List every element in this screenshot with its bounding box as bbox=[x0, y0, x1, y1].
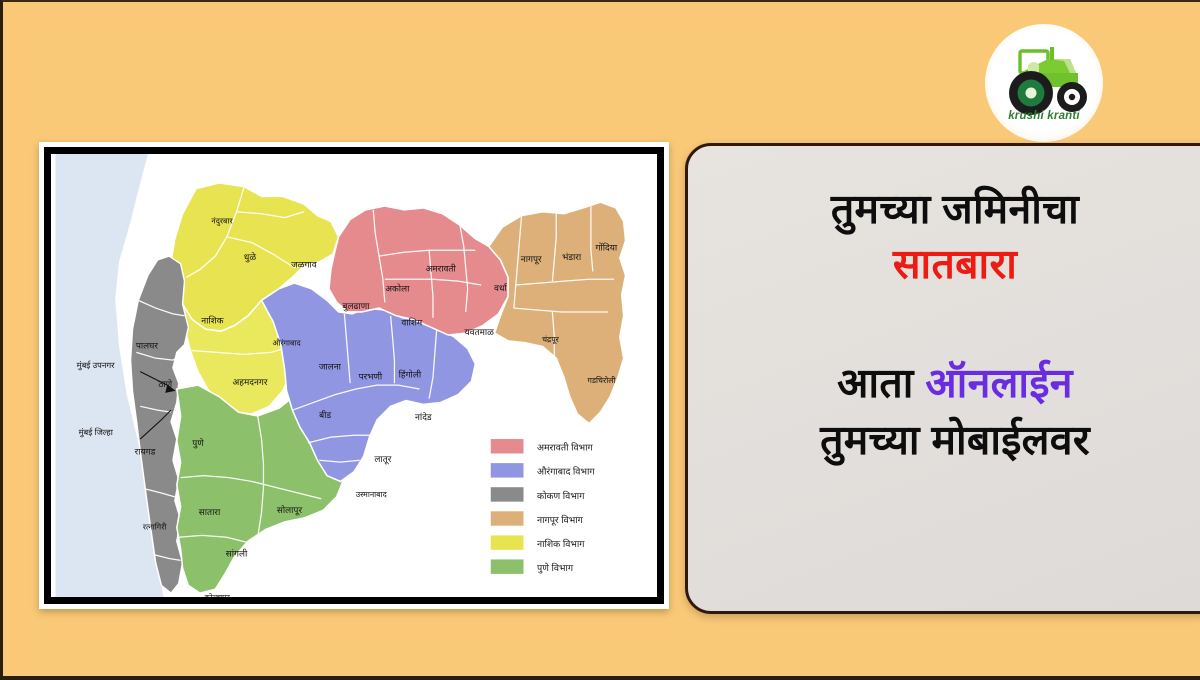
headline-line-4: तुमच्या मोबाईलवर bbox=[820, 417, 1090, 465]
district-label: सोलापूर bbox=[277, 505, 303, 516]
headline-line-3-accent: ऑनलाईन bbox=[925, 360, 1073, 406]
logo-inner: krushi kranti bbox=[998, 43, 1090, 123]
district-label: जालना bbox=[319, 362, 342, 372]
legend-label: कोकण विभाग bbox=[537, 490, 585, 501]
map-panel: नंदुरबारधुळेजळगावनाशिकअहमदनगरपालघरठाणेमु… bbox=[39, 142, 669, 609]
district-label: पालघर bbox=[136, 341, 159, 351]
legend-label: नागपूर विभाग bbox=[537, 514, 584, 526]
district-label: मुंबई जिल्हा bbox=[79, 427, 114, 438]
logo-caption: krushi kranti bbox=[998, 110, 1090, 122]
district-label: उस्मानाबाद bbox=[356, 490, 388, 499]
legend-swatch bbox=[491, 439, 524, 453]
district-label: बुलढाणा bbox=[342, 301, 370, 312]
map-frame: नंदुरबारधुळेजळगावनाशिकअहमदनगरपालघरठाणेमु… bbox=[44, 147, 664, 604]
district-label: धुळे bbox=[244, 252, 256, 263]
legend-label: अमरावती विभाग bbox=[537, 442, 594, 453]
headline-line-3: आता ऑनलाईन bbox=[837, 360, 1073, 408]
district-label: परभणी bbox=[359, 371, 383, 381]
district-label: यवतमाळ bbox=[465, 327, 495, 337]
district-label: भंडारा bbox=[562, 252, 582, 262]
legend-swatch bbox=[491, 559, 524, 573]
district-label: औरंगाबाद bbox=[272, 339, 301, 348]
legend-label: नाशिक विभाग bbox=[537, 538, 585, 549]
district-label: अकोला bbox=[385, 284, 410, 294]
district-label: रायगड bbox=[135, 446, 156, 456]
maharashtra-division-map[interactable]: नंदुरबारधुळेजळगावनाशिकअहमदनगरपालघरठाणेमु… bbox=[51, 154, 657, 597]
district-label: मुंबई उपनगर bbox=[77, 360, 115, 371]
district-label: नाशिक bbox=[201, 315, 224, 325]
legend-swatch bbox=[491, 535, 524, 549]
district-label: जळगाव bbox=[291, 260, 318, 270]
district-label: चंद्रपूर bbox=[542, 335, 560, 345]
legend-swatch bbox=[491, 463, 524, 477]
krushi-kranti-logo[interactable]: krushi kranti bbox=[985, 24, 1103, 142]
promo-text-card: तुमच्या जमिनीचा सातबारा आता ऑनलाईन तुमच्… bbox=[685, 143, 1200, 614]
legend-label: पुणे विभाग bbox=[537, 562, 574, 574]
district-label: सांगली bbox=[226, 549, 248, 559]
legend-swatch bbox=[491, 487, 524, 501]
district-label: हिंगोली bbox=[399, 369, 422, 379]
district-label: गोंदिया bbox=[595, 242, 617, 252]
district-label: अमरावती bbox=[426, 263, 457, 273]
district-label: नांदेड bbox=[415, 412, 432, 422]
district-label: सातारा bbox=[199, 507, 221, 517]
district-label: वर्धा bbox=[494, 283, 508, 293]
headline-line-2: सातबारा bbox=[893, 241, 1017, 289]
headline-line-1: तुमच्या जमिनीचा bbox=[831, 186, 1079, 234]
district-label: नागपूर bbox=[521, 254, 542, 265]
legend-label: औरंगाबाद विभाग bbox=[537, 466, 595, 477]
district-label: अहमदनगर bbox=[233, 377, 268, 387]
legend-swatch bbox=[491, 511, 524, 525]
district-label: रत्नागिरी bbox=[143, 523, 168, 532]
district-label: बीड bbox=[319, 410, 331, 420]
district-label: नंदुरबार bbox=[211, 216, 233, 226]
district-label: पुणे bbox=[192, 438, 204, 449]
district-label: वाशिम bbox=[401, 317, 423, 327]
district-label: कोल्हापूर bbox=[205, 593, 231, 597]
district-label: गडचिरोली bbox=[587, 376, 616, 385]
headline-line-3-prefix: आता bbox=[837, 360, 925, 406]
district-label: लातूर bbox=[374, 454, 391, 465]
poster-root: krushi kranti bbox=[0, 0, 1200, 680]
